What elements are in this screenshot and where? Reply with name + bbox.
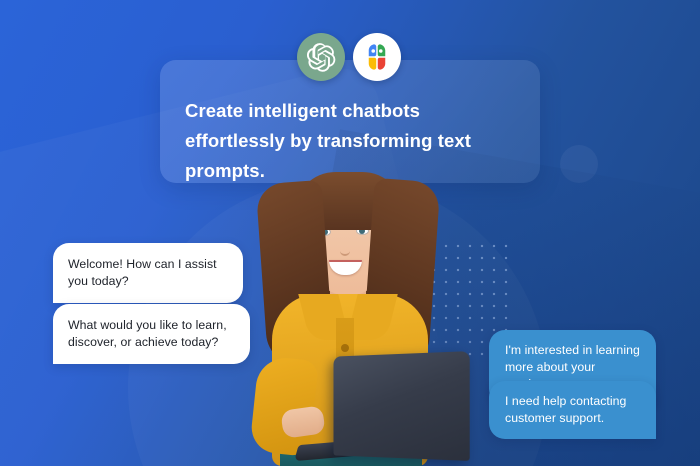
bard-logo-badge[interactable] bbox=[353, 33, 401, 81]
hero-banner: Create intelligent chatbots effortlessly… bbox=[0, 0, 700, 466]
laptop bbox=[302, 354, 470, 466]
openai-icon bbox=[307, 43, 336, 72]
bot-message-bubble[interactable]: Welcome! How can I assist you today? bbox=[53, 243, 243, 303]
background-circle-small bbox=[560, 145, 598, 183]
nose bbox=[340, 240, 350, 256]
openai-logo-badge[interactable] bbox=[297, 33, 345, 81]
bard-logo-icon bbox=[362, 42, 392, 72]
user-message-bubble[interactable]: I need help contacting customer support. bbox=[489, 381, 656, 439]
bot-message-bubble[interactable]: What would you like to learn, discover, … bbox=[53, 304, 250, 364]
logo-row bbox=[297, 33, 401, 81]
blouse-button bbox=[341, 344, 349, 352]
laptop-screen bbox=[333, 351, 469, 461]
person-photo bbox=[238, 168, 458, 466]
